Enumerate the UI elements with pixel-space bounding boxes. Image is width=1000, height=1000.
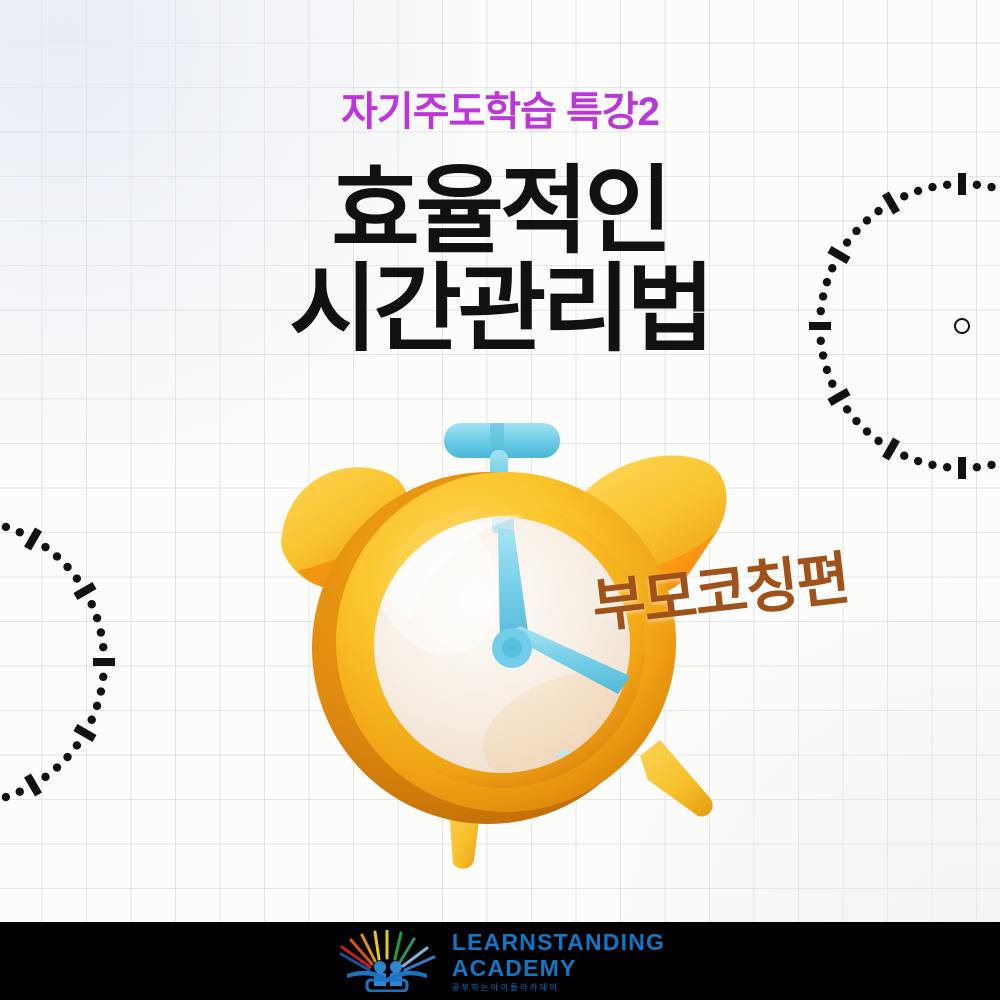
footer-bar: LEARNSTANDING ACADEMY 공부하는아이들아카데미 — [0, 922, 1000, 1000]
brand-text-block: LEARNSTANDING ACADEMY 공부하는아이들아카데미 — [452, 931, 665, 992]
poster-title-line-1: 효율적인 — [0, 160, 1000, 264]
alarm-clock-illustration — [262, 398, 732, 878]
heading-block: 자기주도학습 특강2 효율적인 시간관리법 — [0, 92, 1000, 361]
decorative-clock-left — [0, 512, 112, 812]
brand-line-1: LEARNSTANDING — [452, 931, 665, 954]
poster-canvas: 자기주도학습 특강2 효율적인 시간관리법 — [0, 0, 1000, 1000]
poster-subtitle: 자기주도학습 특강2 — [0, 92, 1000, 132]
poster-title-line-2: 시간관리법 — [0, 258, 1000, 362]
brand-line-2: ACADEMY — [452, 957, 665, 980]
brand-korean-subtitle: 공부하는아이들아카데미 — [452, 984, 665, 992]
logo-mark-icon — [335, 930, 439, 992]
